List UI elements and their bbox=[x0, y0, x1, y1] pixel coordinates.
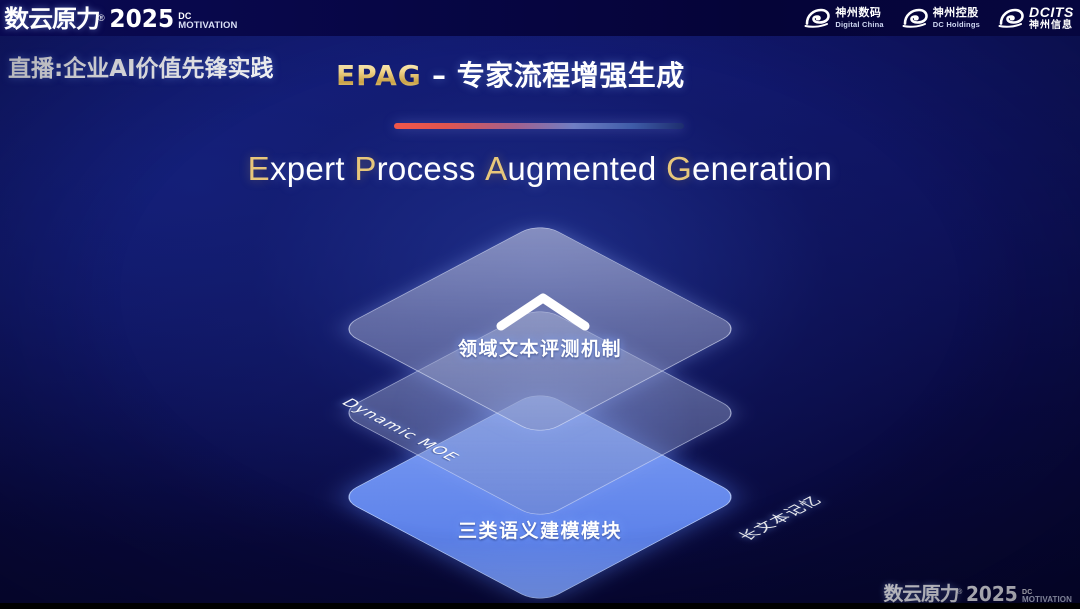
partner-name-en: DC Holdings bbox=[933, 21, 980, 29]
title-divider-bar bbox=[394, 123, 684, 129]
subtitle-rest: rocess bbox=[377, 150, 476, 187]
title-acronym: EPAG bbox=[336, 59, 422, 92]
bottom-edge bbox=[0, 603, 1080, 609]
layered-architecture-diagram: Dynamic MOE 长文本记忆 三类语义建模模块 领域文本评测机制 bbox=[290, 228, 790, 568]
partner-name-cn: 神州控股 bbox=[933, 8, 980, 19]
subtitle-word-generation: Generation bbox=[666, 150, 832, 187]
footer-brand-logo: 数云原力 ® 2025 DC MOTIVATION bbox=[885, 584, 1072, 605]
diagram-layer-top bbox=[290, 228, 790, 568]
partner-name-cn: DCITS bbox=[1029, 5, 1074, 19]
partner-logo-dcits: DCITS 神州信息 bbox=[998, 5, 1074, 31]
subtitle-rest: xpert bbox=[270, 150, 345, 187]
partner-name-cn: 神州数码 bbox=[835, 8, 883, 19]
subtitle-capital: A bbox=[485, 150, 507, 187]
partner-name-en: Digital China bbox=[835, 21, 883, 29]
swirl-logo-icon bbox=[998, 7, 1024, 29]
subtitle-capital: G bbox=[666, 150, 692, 187]
subtitle-word-augmented: Augmented bbox=[485, 150, 657, 187]
page-title: EPAG – 专家流程增强生成 bbox=[336, 54, 685, 94]
brand-dc-motivation: DC MOTIVATION bbox=[178, 12, 237, 31]
title-chinese: 专家流程增强生成 bbox=[457, 59, 685, 92]
presentation-slide: 数云原力 ® 2025 DC MOTIVATION 神州数码 Digital C… bbox=[0, 0, 1080, 609]
subtitle-word-process: Process bbox=[354, 150, 475, 187]
live-banner-text: 直播:企业AI价值先锋实践 bbox=[8, 49, 274, 83]
subtitle-capital: P bbox=[354, 150, 376, 187]
footer-brand-dc-motivation: DC MOTIVATION bbox=[1022, 589, 1072, 604]
brand-name-cn: 数云原力 bbox=[4, 6, 100, 32]
footer-brand-name-cn: 数云原力 bbox=[884, 584, 959, 605]
swirl-logo-icon bbox=[902, 7, 928, 29]
layer-label-domain-text-evaluation: 领域文本评测机制 bbox=[290, 334, 790, 361]
brand-year: 2025 bbox=[109, 6, 174, 32]
subtitle-capital: E bbox=[248, 150, 270, 187]
subtitle-word-expert: Expert bbox=[248, 150, 345, 187]
partner-name-en: 神州信息 bbox=[1029, 21, 1074, 31]
chevron-up-icon bbox=[495, 290, 591, 332]
swirl-logo-icon bbox=[804, 7, 830, 29]
partner-logo-row: 神州数码 Digital China 神州控股 DC Holdings bbox=[804, 0, 1074, 36]
header-bar: 数云原力 ® 2025 DC MOTIVATION 神州数码 Digital C… bbox=[0, 0, 1080, 36]
subtitle-expanded-acronym: Expert Process Augmented Generation bbox=[0, 150, 1080, 188]
subtitle-rest: ugmented bbox=[507, 150, 656, 187]
footer-brand-year: 2025 bbox=[966, 584, 1018, 605]
brand-logo-top: 数云原力 ® 2025 DC MOTIVATION bbox=[6, 2, 237, 32]
partner-logo-dc-holdings: 神州控股 DC Holdings bbox=[902, 7, 980, 29]
partner-logo-digital-china: 神州数码 Digital China bbox=[804, 7, 883, 29]
brand-dc-line2: MOTIVATION bbox=[178, 21, 237, 31]
title-separator: – bbox=[422, 59, 457, 92]
subtitle-rest: eneration bbox=[692, 150, 832, 187]
